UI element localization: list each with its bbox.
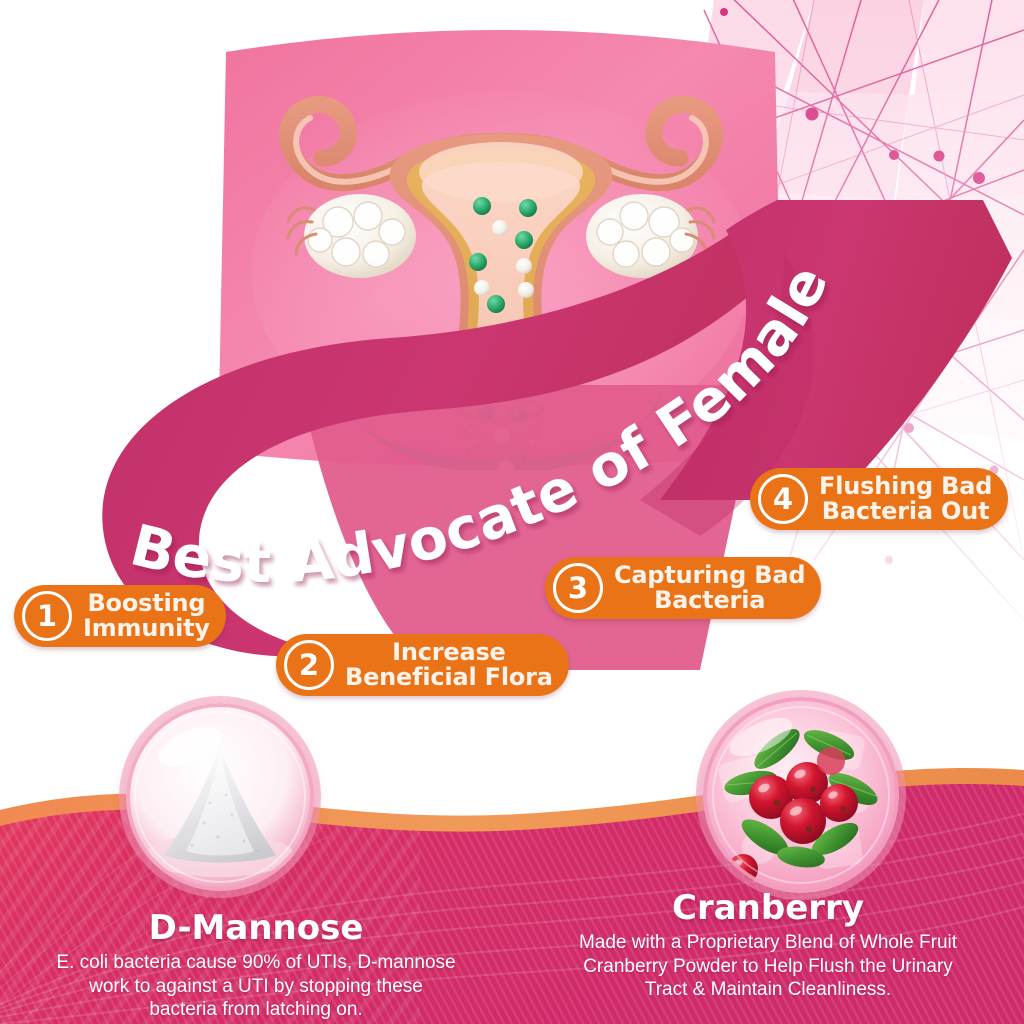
female-anatomy-illustration [218,22,783,470]
badge-label-2: Increase Beneficial Flora [345,640,553,689]
cranberry-title: Cranberry [512,890,1024,927]
badge-label-4: Flushing Bad Bacteria Out [819,474,992,523]
benefit-badge-3[interactable]: 3 Capturing Bad Bacteria [545,557,821,619]
badge-number-2: 2 [284,640,334,690]
d-mannose-title: D-Mannose [0,910,512,947]
badge-number-3: 3 [553,563,603,613]
benefit-badge-2[interactable]: 2 Increase Beneficial Flora [276,634,569,696]
cranberry-caption: Cranberry Made with a Proprietary Blend … [512,890,1024,1001]
badge-label-3: Capturing Bad Bacteria [614,563,805,612]
badge-label-1: Boosting Immunity [83,591,210,640]
benefit-badge-4[interactable]: 4 Flushing Bad Bacteria Out [750,468,1008,530]
badge-number-1: 1 [22,591,72,641]
d-mannose-caption: D-Mannose E. coli bacteria cause 90% of … [0,910,512,1021]
d-mannose-description: E. coli bacteria cause 90% of UTIs, D-ma… [0,951,512,1021]
infographic-canvas: Best Advocate of Female Parts ! 1 Boosti… [0,0,1024,1024]
d-mannose-image [126,703,314,891]
cranberry-description: Made with a Proprietary Blend of Whole F… [512,931,1024,1001]
cranberry-image [703,697,899,893]
benefit-badge-1[interactable]: 1 Boosting Immunity [14,585,226,647]
badge-number-4: 4 [758,474,808,524]
